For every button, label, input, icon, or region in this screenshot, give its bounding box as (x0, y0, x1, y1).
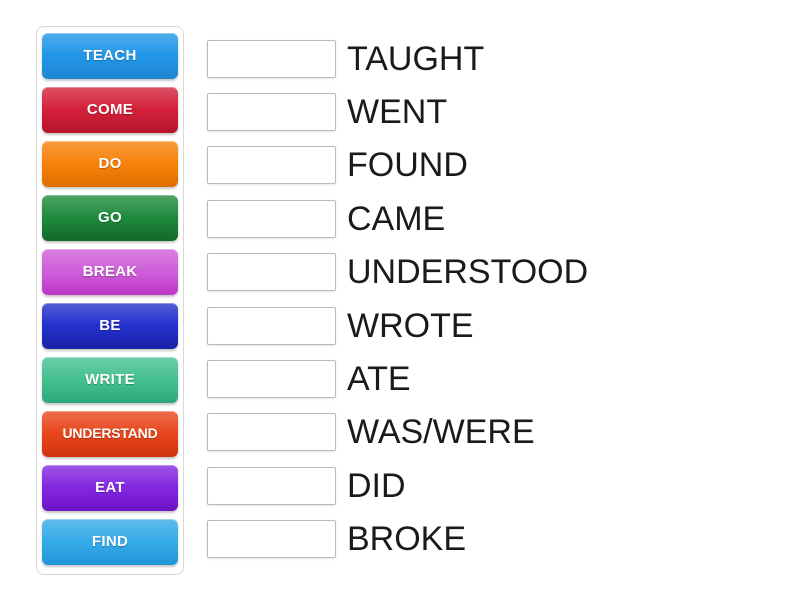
answer-word-label: FOUND (347, 148, 468, 182)
answer-row: DID (207, 459, 767, 512)
tile-label: TEACH (83, 48, 136, 63)
answer-row: WENT (207, 85, 767, 138)
answer-word-label: CAME (347, 202, 445, 236)
drop-target-box[interactable] (207, 253, 336, 291)
answer-word-label: WENT (347, 95, 447, 129)
answer-word-label: DID (347, 469, 406, 503)
tile-label: GO (98, 210, 122, 225)
tile-write[interactable]: WRITE (42, 357, 178, 403)
tile-label: DO (98, 156, 121, 171)
tile-label: COME (87, 102, 133, 117)
drop-target-box[interactable] (207, 146, 336, 184)
answer-row: UNDERSTOOD (207, 246, 767, 299)
drop-target-box[interactable] (207, 467, 336, 505)
tile-do[interactable]: DO (42, 141, 178, 187)
match-up-activity: TEACHCOMEDOGOBREAKBEWRITEUNDERSTANDEATFI… (0, 0, 800, 600)
tile-come[interactable]: COME (42, 87, 178, 133)
tile-be[interactable]: BE (42, 303, 178, 349)
tile-label: FIND (92, 534, 128, 549)
answer-row: WAS/WERE (207, 406, 767, 459)
drop-target-box[interactable] (207, 520, 336, 558)
tile-label: BREAK (83, 264, 138, 279)
answer-word-label: ATE (347, 362, 411, 396)
tile-break[interactable]: BREAK (42, 249, 178, 295)
drop-target-box[interactable] (207, 307, 336, 345)
answer-row: ATE (207, 352, 767, 405)
drop-target-box[interactable] (207, 413, 336, 451)
tile-eat[interactable]: EAT (42, 465, 178, 511)
answer-row: WROTE (207, 299, 767, 352)
tile-label: BE (99, 318, 120, 333)
drop-target-box[interactable] (207, 360, 336, 398)
answer-word-label: WROTE (347, 309, 474, 343)
drop-target-box[interactable] (207, 200, 336, 238)
answer-word-label: WAS/WERE (347, 415, 535, 449)
answer-word-label: UNDERSTOOD (347, 255, 588, 289)
answer-row: CAME (207, 192, 767, 245)
tile-find[interactable]: FIND (42, 519, 178, 565)
drop-target-box[interactable] (207, 93, 336, 131)
tile-label: WRITE (85, 372, 135, 387)
tile-go[interactable]: GO (42, 195, 178, 241)
tile-label: UNDERSTAND (63, 426, 158, 440)
answer-row: FOUND (207, 139, 767, 192)
answer-word-label: BROKE (347, 522, 466, 556)
answer-row: TAUGHT (207, 32, 767, 85)
drop-target-box[interactable] (207, 40, 336, 78)
tile-label: EAT (95, 480, 125, 495)
answer-row: BROKE (207, 513, 767, 566)
tile-teach[interactable]: TEACH (42, 33, 178, 79)
answer-rows-list: TAUGHTWENTFOUNDCAMEUNDERSTOODWROTEATEWAS… (207, 32, 767, 566)
draggable-tiles-panel: TEACHCOMEDOGOBREAKBEWRITEUNDERSTANDEATFI… (36, 26, 184, 575)
tile-understand[interactable]: UNDERSTAND (42, 411, 178, 457)
answer-word-label: TAUGHT (347, 42, 484, 76)
